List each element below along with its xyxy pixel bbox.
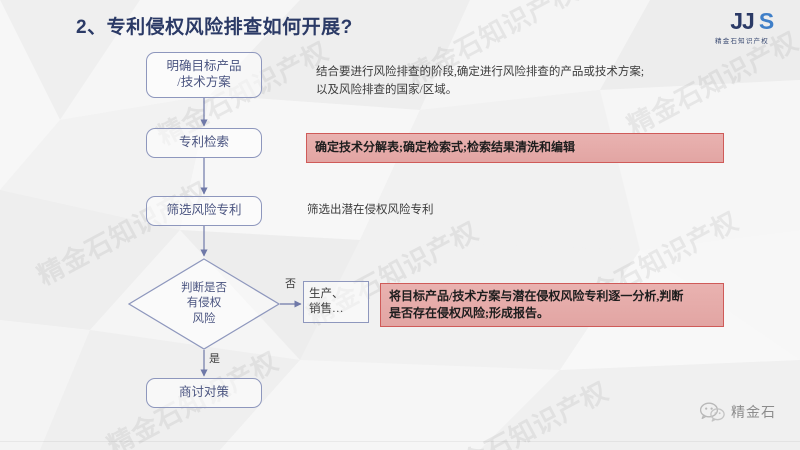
callout-analysis-report: 将目标产品/技术方案与潜在侵权风险专利逐一分析,判断 是否存在侵权风险;形成报告…	[380, 283, 724, 327]
slide-canvas: 精金石知识产权 精金石知识产权 精金石知识产权 精金石知识产权 精金石知识产权 …	[0, 0, 800, 450]
flow-node-label: /技术方案	[166, 75, 241, 91]
flow-node-patent-search[interactable]: 专利检索	[146, 128, 262, 158]
decision-label-line3: 风险	[193, 312, 216, 328]
decision-label-line1: 判断是否	[181, 281, 227, 297]
annotation-define-target: 结合要进行风险排查的阶段,确定进行风险排查的产品或技术方案; 以及风险排查的国家…	[316, 64, 736, 100]
callout-line: 将目标产品/技术方案与潜在侵权风险专利逐一分析,判断	[389, 288, 683, 305]
flow-node-discuss-countermeasures[interactable]: 商讨对策	[146, 378, 262, 408]
decision-label-line2: 有侵权	[187, 296, 222, 312]
flow-node-filter-risk-patents[interactable]: 筛选风险专利	[146, 196, 262, 226]
annotation-filter-risk: 筛选出潜在侵权风险专利	[307, 202, 607, 220]
wechat-icon	[700, 402, 726, 422]
flow-node-label: 销售…	[309, 302, 344, 317]
callout-search-steps: 确定技术分解表;确定检索式;检索结果清洗和编辑	[306, 133, 724, 163]
edge-label-no: 否	[285, 275, 296, 291]
callout-line: 是否存在侵权风险;形成报告。	[389, 305, 683, 322]
annotation-line: 结合要进行风险排查的阶段,确定进行风险排查的产品或技术方案;	[316, 64, 736, 82]
flow-node-decision-infringement-risk[interactable]: 判断是否 有侵权 风险	[128, 258, 280, 350]
bottom-divider	[0, 441, 800, 442]
wechat-label: 精金石	[731, 402, 776, 422]
flow-node-produce-sell[interactable]: 生产、 销售…	[303, 281, 369, 323]
flow-node-label: 生产、	[309, 287, 344, 302]
flow-node-define-target[interactable]: 明确目标产品 /技术方案	[146, 52, 262, 98]
edge-label-yes: 是	[209, 350, 220, 366]
annotation-line: 以及风险排查的国家/区域。	[316, 82, 736, 100]
wechat-badge: 精金石	[700, 402, 776, 422]
flow-node-label: 明确目标产品	[166, 59, 241, 75]
